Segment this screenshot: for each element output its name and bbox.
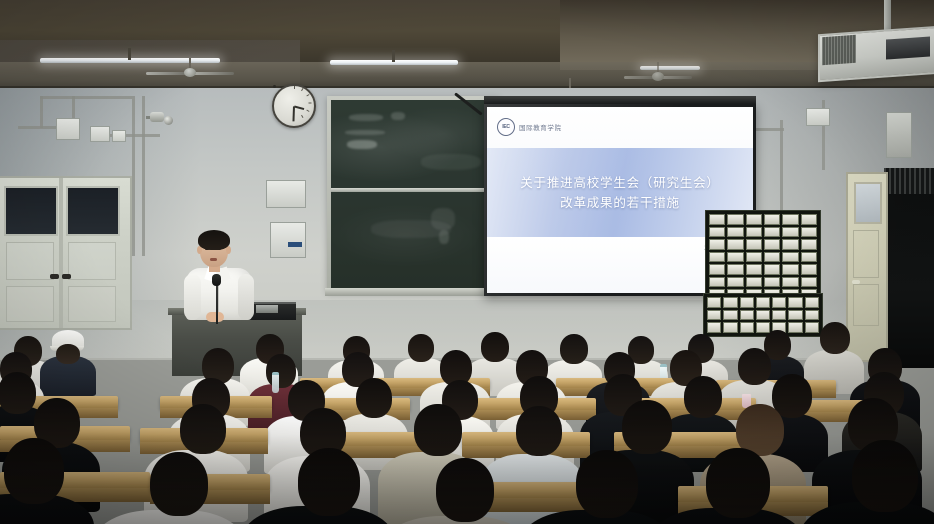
light-bracket <box>392 50 395 62</box>
door-handle[interactable] <box>852 280 860 284</box>
clock-hour-hand <box>294 105 305 110</box>
fan-blade <box>190 72 234 75</box>
door-right[interactable] <box>846 172 888 362</box>
water-bottle <box>272 372 279 393</box>
institution-name: 国际教育学院 <box>519 122 562 132</box>
dark-doorway <box>884 168 934 368</box>
monitor-glow <box>256 305 278 313</box>
class-name-board-lower <box>703 293 823 337</box>
conduit-pipe <box>40 96 43 128</box>
door-mullion <box>59 178 63 328</box>
microphone-stand <box>216 280 218 324</box>
door-window <box>4 186 58 236</box>
ceiling-fan-icon <box>620 62 696 80</box>
chalk-tray <box>325 288 501 296</box>
slide-title-line-2: 改革成果的若干措施 <box>560 193 680 212</box>
security-camera-icon <box>150 112 164 122</box>
control-panel <box>270 222 306 258</box>
presenter-hair <box>198 230 230 250</box>
vent-louver <box>884 168 934 194</box>
presenter <box>186 228 252 318</box>
door-panel <box>853 284 879 326</box>
door-panel <box>853 230 879 278</box>
door-panel <box>6 242 54 280</box>
door-window <box>66 186 120 236</box>
control-panel <box>112 130 126 142</box>
presenter-arm <box>238 274 254 320</box>
door-panel <box>68 242 116 280</box>
door-panel <box>6 286 54 322</box>
presenter-hand <box>206 312 224 322</box>
ceiling-fan-icon <box>140 58 240 80</box>
control-panel <box>90 126 110 142</box>
chalkboard <box>327 96 499 292</box>
clock-center-pin <box>273 85 276 88</box>
fan-hub <box>184 68 196 77</box>
control-panel <box>806 108 830 126</box>
wall-speaker <box>886 112 912 158</box>
chalkboard-rail <box>331 188 495 192</box>
slide-logo: IEC 国际教育学院 <box>497 118 562 136</box>
clock-minute-hand <box>292 106 295 121</box>
door-panel <box>68 286 116 322</box>
conduit-pipe <box>142 96 145 256</box>
slide-title-line-1: 关于推进高校学生会（研究生会） <box>520 173 720 192</box>
chalkboard-surface <box>331 100 495 288</box>
door-handle[interactable] <box>62 274 71 279</box>
fan-hub <box>652 72 664 81</box>
presenter-arm <box>184 274 201 320</box>
control-panel <box>56 118 80 140</box>
camera-dome-icon <box>164 116 173 125</box>
projector-icon <box>886 36 930 59</box>
door-handle[interactable] <box>50 274 59 279</box>
institution-logo-icon: IEC <box>497 118 515 136</box>
microphone-icon <box>212 274 221 286</box>
door-window <box>854 182 882 224</box>
panel-display <box>288 242 302 247</box>
light-bracket <box>128 48 131 60</box>
projector-vent <box>822 35 856 65</box>
conduit-pipe <box>132 96 135 256</box>
slide-header: IEC 国际教育学院 <box>487 107 753 148</box>
control-panel <box>266 180 306 208</box>
door-left[interactable] <box>0 176 132 330</box>
presenter-mouth <box>210 258 217 261</box>
wall-clock-icon <box>272 84 316 128</box>
conduit-pipe <box>40 96 132 99</box>
lecture-hall-photo: IEC 国际教育学院 关于推进高校学生会（研究生会） 改革成果的若干措施 202… <box>0 0 934 524</box>
